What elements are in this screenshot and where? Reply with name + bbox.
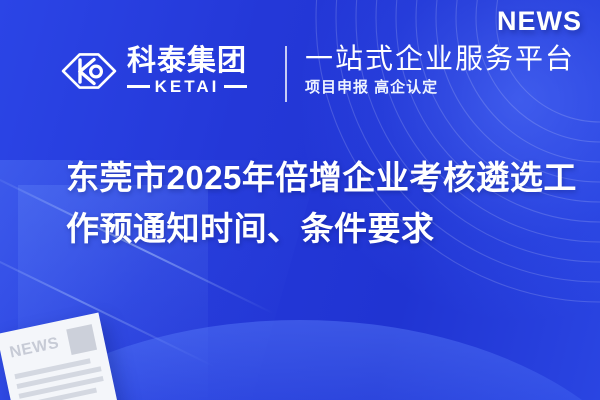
- header-tagline: 一站式企业服务平台 项目申报 高企认定: [305, 42, 575, 97]
- banner-header: 科泰集团 KETAI 一站式企业服务平台 项目申报 高企认定 NEWS: [0, 0, 600, 130]
- brand-name-en: KETAI: [155, 78, 220, 95]
- tagline-primary: 一站式企业服务平台: [305, 42, 575, 75]
- wordmark-dash-left: [127, 85, 150, 88]
- brand-name-en-row: KETAI: [127, 78, 247, 95]
- brand-name-cn: 科泰集团: [127, 47, 247, 76]
- news-badge: NEWS: [497, 6, 582, 37]
- brand-wordmark: 科泰集团 KETAI: [127, 47, 247, 95]
- newspaper-masthead: NEWS: [8, 332, 61, 362]
- banner-title: 东莞市2025年倍增企业考核遴选工 作预通知时间、条件要求: [66, 152, 586, 254]
- wordmark-dash-right: [224, 85, 247, 88]
- brand-logo[interactable]: 科泰集团 KETAI: [60, 42, 247, 100]
- newspaper-thumbnail: [66, 324, 97, 355]
- title-line-2: 作预通知时间、条件要求: [66, 203, 586, 254]
- ketai-diamond-k-logo-icon: [60, 42, 118, 100]
- tagline-secondary: 项目申报 高企认定: [305, 79, 575, 97]
- header-divider: [285, 46, 287, 102]
- news-banner: 科泰集团 KETAI 一站式企业服务平台 项目申报 高企认定 NEWS 东莞市2…: [0, 0, 600, 400]
- title-line-1: 东莞市2025年倍增企业考核遴选工: [66, 152, 586, 203]
